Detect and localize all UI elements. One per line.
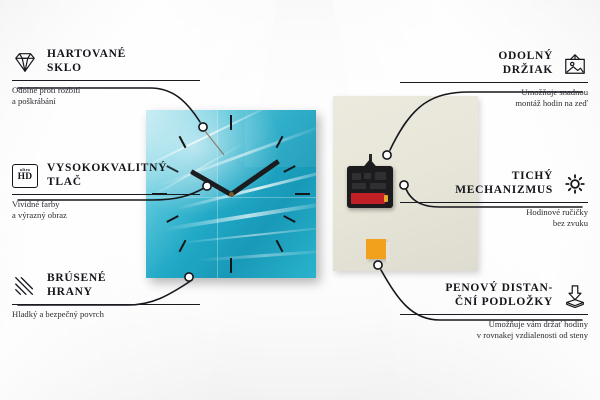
clock-tick	[179, 136, 187, 148]
callout-title-line1: TICHÝ	[455, 170, 553, 184]
callout-divider	[400, 202, 588, 203]
callout-divider	[400, 82, 588, 83]
callout-title-line2: HRANY	[47, 286, 106, 300]
beveled-edges-icon	[12, 274, 38, 298]
callout-divider	[12, 194, 200, 195]
callout-durable-mount[interactable]: ODOLNÝ DRŽIAK Umožňuje snadnou montáž ho…	[400, 50, 588, 109]
callout-title-line1: HARTOVANÉ	[47, 48, 126, 62]
clock-tick	[276, 240, 284, 252]
callout-desc-line2: montáž hodin na zeď	[400, 98, 588, 109]
callout-title-line1: PENOVÝ DISTAN-	[445, 282, 553, 296]
callout-desc-line2: bez zvuku	[400, 218, 588, 229]
callout-desc-line1: Umožňuje snadnou	[400, 87, 588, 98]
gear-icon	[562, 172, 588, 196]
callout-desc-line1: Hladký a bezpečný povrch	[12, 309, 200, 320]
callout-divider	[12, 304, 200, 305]
callout-divider	[12, 80, 200, 81]
callout-title-line2: ČNÍ PODLOŽKY	[445, 296, 553, 310]
callout-title-line2: DRŽIAK	[498, 64, 553, 78]
callout-title-line1: VYSOKOKVALITNÝ	[47, 162, 167, 176]
callout-desc-line2: v rovnakej vzdialenosti od steny	[400, 330, 588, 341]
callout-beveled-edges[interactable]: BRÚSENÉ HRANY Hladký a bezpečný povrch	[12, 272, 200, 320]
clock-tick	[295, 193, 310, 195]
movement-battery	[351, 193, 385, 204]
callout-desc-line1: Odolné proti rozbití	[12, 85, 200, 96]
clock-tick	[230, 115, 232, 130]
callout-divider	[400, 314, 588, 315]
clock-minute-hand	[230, 159, 280, 196]
infographic-canvas: HARTOVANÉ SKLO Odolné proti rozbití a po…	[0, 0, 600, 400]
hd-badge-main-label: HD	[18, 173, 33, 183]
ultra-hd-badge-icon: ultra HD	[12, 164, 38, 188]
battery-terminal	[384, 195, 388, 202]
clock-tick	[230, 258, 232, 273]
callout-title-line2: SKLO	[47, 62, 126, 76]
diamond-icon	[12, 50, 38, 74]
callout-desc-line1: Umožňuje vám držať hodiny	[400, 319, 588, 330]
callout-desc-line2: a poškrábání	[12, 96, 200, 107]
callout-title-line2: MECHANIZMUS	[455, 184, 553, 198]
callout-title-line2: TLAČ	[47, 176, 167, 190]
callout-title-line1: BRÚSENÉ	[47, 272, 106, 286]
callout-title-line1: ODOLNÝ	[498, 50, 553, 64]
clock-tick	[179, 240, 187, 252]
foam-spacer-pad	[366, 239, 386, 259]
callout-desc-line2: a výrazný obraz	[12, 210, 200, 221]
callout-tempered-glass[interactable]: HARTOVANÉ SKLO Odolné proti rozbití a po…	[12, 48, 200, 107]
clock-movement	[347, 166, 393, 208]
callout-silent-mechanism[interactable]: TICHÝ MECHANIZMUS Hodinové ručičky bez z…	[400, 170, 588, 229]
clock-center-pivot	[229, 192, 234, 197]
clock-tick	[276, 136, 284, 148]
callout-desc-line1: Vividné farby	[12, 199, 200, 210]
callout-desc-line1: Hodinové ručičky	[400, 207, 588, 218]
callout-high-quality-print[interactable]: ultra HD VYSOKOKVALITNÝ TLAČ Vividné far…	[12, 162, 200, 221]
clock-tick	[283, 215, 295, 223]
clock-tick	[283, 165, 295, 173]
wall-mount-frame-icon	[562, 52, 588, 76]
callout-foam-spacers[interactable]: PENOVÝ DISTAN- ČNÍ PODLOŽKY Umožňuje vám…	[400, 282, 588, 341]
press-pad-icon	[562, 284, 588, 308]
